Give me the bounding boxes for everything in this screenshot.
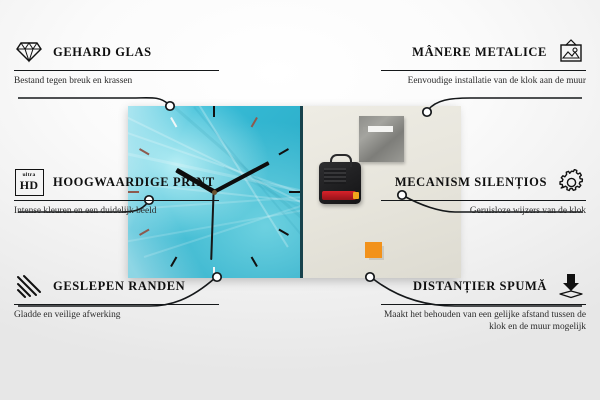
callout-mecanism-silentios[interactable]: MECANISM SILENȚIOS Geruisloze wijzers va… bbox=[381, 168, 586, 217]
diagonal-lines-icon bbox=[14, 272, 44, 300]
callout-subtitle: Maakt het behouden van een gelijke afsta… bbox=[381, 309, 586, 333]
callout-distantier-spuma[interactable]: DISTANȚIER SPUMĂ Maakt het behouden van … bbox=[381, 272, 586, 333]
clock-tick bbox=[214, 191, 300, 193]
clock-mechanism bbox=[319, 162, 361, 204]
callout-hoogwaardige-print[interactable]: ultra HD HOOGWAARDIGE PRINT Intense kleu… bbox=[14, 168, 219, 217]
metal-hanger-icon bbox=[359, 116, 404, 162]
callout-manere-metalice[interactable]: MÂNERE METALICE Eenvoudige installatie v… bbox=[381, 38, 586, 87]
diamond-icon bbox=[14, 38, 44, 66]
ultra-hd-icon: ultra HD bbox=[14, 168, 44, 196]
mechanism-detail bbox=[324, 168, 346, 184]
down-arrow-platform-icon bbox=[556, 272, 586, 300]
callout-geslepen-randen[interactable]: GESLEPEN RANDEN Gladde en veilige afwerk… bbox=[14, 272, 219, 321]
infographic-canvas: GEHARD GLAS Bestand tegen breuk en krass… bbox=[0, 0, 600, 400]
callout-divider bbox=[14, 304, 219, 305]
callout-subtitle: Gladde en veilige afwerking bbox=[14, 309, 219, 321]
hanging-loop-icon bbox=[330, 154, 352, 167]
callout-title: GEHARD GLAS bbox=[53, 45, 152, 59]
picture-frame-hook-icon bbox=[556, 38, 586, 66]
battery bbox=[322, 191, 356, 200]
callout-gehard-glas[interactable]: GEHARD GLAS Bestand tegen breuk en krass… bbox=[14, 38, 219, 87]
battery-plus-terminal bbox=[353, 192, 359, 199]
callout-subtitle: Intense kleuren en een duidelijk beeld bbox=[14, 205, 219, 217]
callout-subtitle: Eenvoudige installatie van de klok aan d… bbox=[381, 75, 586, 87]
gear-icon bbox=[556, 168, 586, 196]
callout-divider bbox=[14, 200, 219, 201]
callout-title: DISTANȚIER SPUMĂ bbox=[413, 279, 547, 293]
callout-divider bbox=[381, 200, 586, 201]
callout-title: HOOGWAARDIGE PRINT bbox=[53, 175, 215, 189]
callout-subtitle: Geruisloze wijzers van de klok bbox=[381, 205, 586, 217]
callout-subtitle: Bestand tegen breuk en krassen bbox=[14, 75, 219, 87]
foam-spacer bbox=[365, 242, 382, 258]
hanger-slot bbox=[368, 126, 393, 132]
callout-title: MECANISM SILENȚIOS bbox=[395, 175, 547, 189]
callout-title: MÂNERE METALICE bbox=[412, 45, 547, 59]
callout-title: GESLEPEN RANDEN bbox=[53, 279, 185, 293]
callout-divider bbox=[381, 304, 586, 305]
callout-divider bbox=[381, 70, 586, 71]
ultra-hd-icon-hd: HD bbox=[20, 179, 38, 191]
callout-divider bbox=[14, 70, 219, 71]
